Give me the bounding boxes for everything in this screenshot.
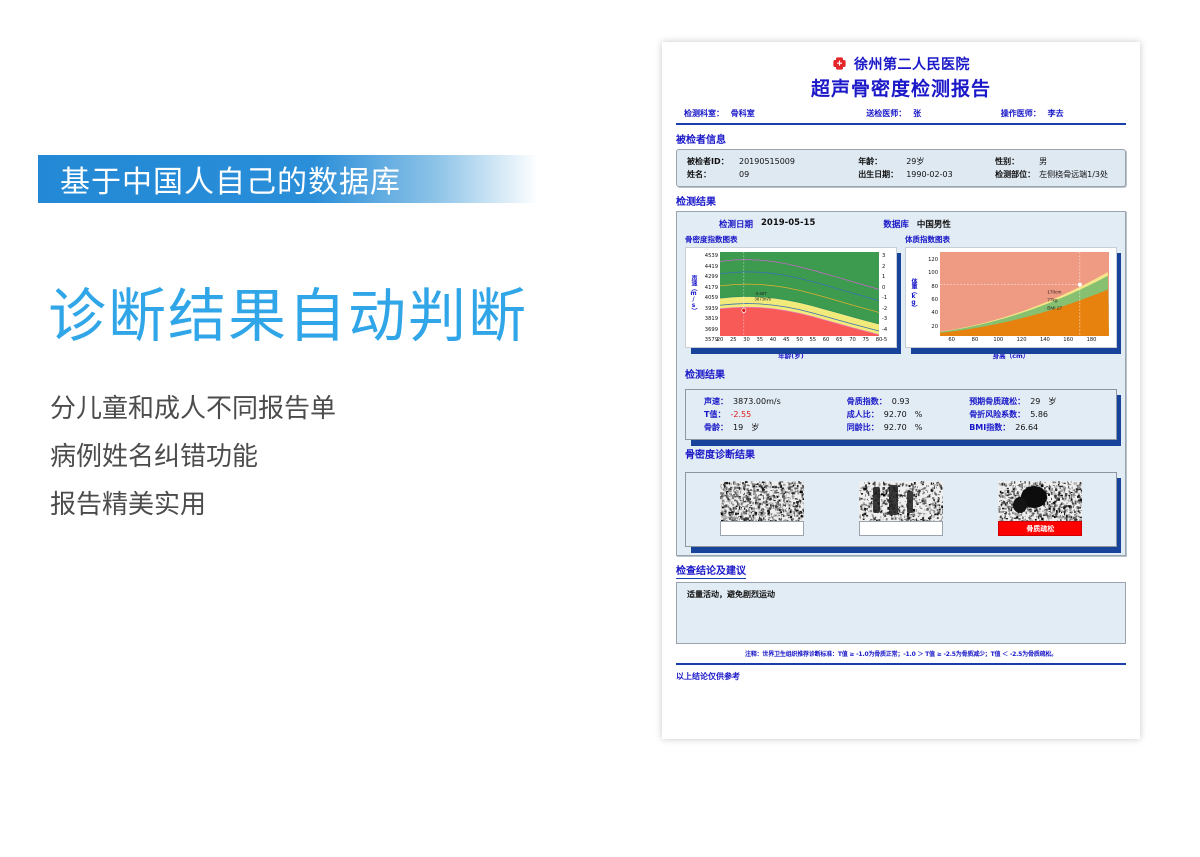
marketing-banner-text: 基于中国人自己的数据库	[38, 157, 401, 201]
x-tick: 25	[730, 337, 737, 343]
x-tick: 55	[809, 337, 816, 343]
t-tick: 1	[882, 274, 885, 280]
patient-birthdate-label: 出生日期：	[858, 168, 906, 181]
report-page: 徐州第二人民医院 超声骨密度检测报告 检测科室： 骨科室 送检医师： 张 操作医…	[662, 42, 1140, 739]
x-tick: 70	[849, 337, 856, 343]
peer-ratio-value: 92.70	[884, 421, 907, 434]
patient-age-label: 年龄：	[858, 155, 906, 168]
t-tick: -4	[882, 327, 887, 333]
bone-chart-plot: -2.55T3873m/s	[720, 252, 879, 336]
marketing-banner: 基于中国人自己的数据库	[38, 155, 538, 203]
expected-osteoporosis-field: 预期骨质疏松： 29 岁	[969, 395, 1112, 408]
referring-doctor-value: 张	[913, 109, 921, 118]
t-tick: 0	[882, 285, 885, 291]
svg-text:BMI 27: BMI 27	[1047, 305, 1062, 310]
bone-caption-2	[859, 521, 943, 536]
measurement-row-1: 声速： 3873.00m/s 骨质指数： 0.93 预期骨质疏松： 29 岁	[704, 395, 1112, 408]
peer-ratio-field: 同龄比： 92.70 %	[847, 421, 969, 434]
bone-age-value: 19	[733, 421, 743, 434]
patient-gender-field: 性别： 男	[995, 155, 1115, 168]
svg-text:-2.55T: -2.55T	[754, 291, 767, 296]
hospital-name: 徐州第二人民医院	[854, 54, 970, 74]
x-tick: 45	[783, 337, 790, 343]
patient-info-box: 被检者ID： 20190515009 年龄： 29岁 性别： 男 姓名： 09 …	[676, 149, 1126, 187]
bmi-chart-annotations: 170cm77kgBMI 27	[940, 252, 1109, 336]
bone-chart-y-axis: 357936993819393940594179429944194539	[698, 252, 720, 336]
y-tick: 3699	[705, 327, 718, 333]
measurement-site-field: 检测部位： 左侧桡骨远端1/3处	[995, 168, 1115, 181]
measurement-site-value: 左侧桡骨远端1/3处	[1039, 168, 1108, 181]
bone-chart-x-axis: 20253035404550556065707580	[720, 336, 879, 345]
marketing-bullet-3: 报告精美实用	[50, 481, 570, 529]
expected-osteoporosis-label: 预期骨质疏松：	[969, 395, 1025, 408]
y-tick: 100	[928, 270, 938, 276]
fracture-risk-field: 骨折风险系数： 5.86	[969, 408, 1112, 421]
marketing-headline: 诊断结果自动判断	[48, 285, 608, 349]
x-tick: 20	[717, 337, 724, 343]
bone-age-field: 骨龄： 19 岁	[704, 421, 847, 434]
operator-doctor-field: 操作医师： 李去	[1001, 108, 1118, 119]
fracture-risk-value: 5.86	[1030, 408, 1048, 421]
t-tick: 3	[882, 253, 885, 259]
patient-birthdate-field: 出生日期： 1990-02-03	[858, 168, 995, 181]
y-tick: 80	[931, 284, 938, 290]
patient-info-row-2: 姓名： 09 出生日期： 1990-02-03 检测部位： 左侧桡骨远端1/3处	[687, 168, 1115, 181]
x-tick: 50	[796, 337, 803, 343]
adult-ratio-unit: %	[915, 408, 923, 421]
department-label: 检测科室：	[684, 109, 724, 118]
x-tick: 30	[743, 337, 750, 343]
bmi-field: BMI指数： 26.64	[969, 421, 1112, 434]
patient-id-field: 被检者ID： 20190515009	[687, 155, 858, 168]
bmi-chart-y-axis: 20406080100120	[918, 252, 940, 336]
x-tick: 180	[1087, 337, 1097, 343]
x-tick: 80	[876, 337, 883, 343]
exam-date-value: 2019-05-15	[761, 218, 815, 230]
bmi-chart-ylabel: 体重（kg）	[909, 252, 918, 336]
measurement-row-3: 骨龄： 19 岁 同龄比： 92.70 % BMI指数： 26.64	[704, 421, 1112, 434]
footer-note: 以上结论仅供参考	[676, 671, 1126, 682]
y-tick: 4539	[705, 253, 718, 259]
x-tick: 35	[756, 337, 763, 343]
bone-chart-annotations: -2.55T3873m/s	[720, 252, 879, 336]
bone-texture-image-3	[998, 481, 1082, 521]
fracture-risk-label: 骨折风险系数：	[969, 408, 1025, 421]
sos-field: 声速： 3873.00m/s	[704, 395, 847, 408]
marketing-bullet-2: 病例姓名纠错功能	[50, 433, 570, 481]
x-tick: 60	[823, 337, 830, 343]
y-tick: 4059	[705, 295, 718, 301]
t-score-value: -2.55	[730, 408, 751, 421]
bone-quality-index-value: 0.93	[892, 395, 910, 408]
patient-gender-value: 男	[1039, 155, 1047, 168]
x-tick: 100	[993, 337, 1003, 343]
t-tick: -2	[882, 306, 887, 312]
y-tick: 4179	[705, 285, 718, 291]
bone-age-label: 骨龄：	[704, 421, 728, 434]
patient-name-label: 姓名：	[687, 168, 739, 181]
bmi-chart-x-axis: 6080100120140160180	[940, 336, 1109, 345]
bone-chart-ylabel: 声速（m/s）	[689, 252, 698, 336]
measure-section-title: 检测结果	[685, 366, 725, 381]
svg-text:3873m/s: 3873m/s	[754, 296, 771, 301]
x-tick: 140	[1040, 337, 1050, 343]
t-score-label: T值：	[704, 408, 725, 421]
doctor-row: 检测科室： 骨科室 送检医师： 张 操作医师： 李去	[676, 108, 1126, 119]
t-tick: -3	[882, 316, 887, 322]
expected-osteoporosis-value: 29	[1030, 395, 1040, 408]
patient-section-title: 被检者信息	[676, 131, 726, 146]
x-tick: 160	[1063, 337, 1073, 343]
x-tick: 60	[948, 337, 955, 343]
bone-caption-1	[720, 521, 804, 536]
x-tick: 75	[862, 337, 869, 343]
y-tick: 3939	[705, 306, 718, 312]
peer-ratio-unit: %	[915, 421, 923, 434]
results-section-title: 检测结果	[676, 193, 716, 208]
patient-age-value: 29岁	[906, 155, 924, 168]
charts-row: 骨密度指数图表 声速（m/s） 357936993819393940594179…	[685, 234, 1117, 360]
marketing-bullet-list: 分儿童和成人不同报告单 病例姓名纠错功能 报告精美实用	[50, 385, 570, 529]
bone-texture-image-1	[720, 481, 804, 521]
patient-info-row-1: 被检者ID： 20190515009 年龄： 29岁 性别： 男	[687, 155, 1115, 168]
expected-osteoporosis-unit: 岁	[1048, 395, 1056, 408]
referring-doctor-field: 送检医师： 张	[866, 108, 1001, 119]
operator-doctor-value: 李去	[1048, 109, 1064, 118]
conclusion-text: 适量活动，避免剧烈运动	[687, 589, 1115, 600]
database-label: 数据库	[883, 218, 909, 230]
department-value: 骨科室	[731, 109, 755, 118]
bmi-label: BMI指数：	[969, 421, 1010, 434]
adult-ratio-field: 成人比： 92.70 %	[847, 408, 969, 421]
bmi-value: 26.64	[1015, 421, 1038, 434]
sos-value: 3873.00m/s	[733, 395, 781, 408]
patient-birthdate-value: 1990-02-03	[906, 168, 953, 181]
x-tick: 80	[972, 337, 979, 343]
report-title: 超声骨密度检测报告	[676, 74, 1126, 101]
bone-item: 骨质疏松	[998, 481, 1082, 536]
y-tick: 4419	[705, 264, 718, 270]
peer-ratio-label: 同龄比：	[847, 421, 879, 434]
bone-section-title: 骨密度诊断结果	[685, 446, 755, 461]
marketing-panel: 基于中国人自己的数据库 诊断结果自动判断 分儿童和成人不同报告单 病例姓名纠错功…	[0, 0, 640, 857]
x-tick: 120	[1017, 337, 1027, 343]
operator-doctor-label: 操作医师：	[1001, 109, 1041, 118]
t-tick: -1	[882, 295, 887, 301]
measurement-box: 声速： 3873.00m/s 骨质指数： 0.93 预期骨质疏松： 29 岁	[685, 389, 1117, 440]
footer-divider	[676, 663, 1126, 665]
y-tick: 4299	[705, 274, 718, 280]
t-score-field: T值： -2.55	[704, 408, 847, 421]
osteoporosis-status-badge: 骨质疏松	[998, 521, 1082, 536]
y-tick: 3819	[705, 316, 718, 322]
results-panel: 检测日期 2019-05-15 数据库 中国男性 骨密度指数图表 声速（m/s）…	[676, 211, 1126, 556]
department-field: 检测科室： 骨科室	[684, 108, 866, 119]
y-tick: 120	[928, 257, 938, 263]
svg-text:77kg: 77kg	[1047, 297, 1058, 302]
header-divider	[676, 123, 1126, 125]
adult-ratio-label: 成人比：	[847, 408, 879, 421]
y-tick: 60	[931, 297, 938, 303]
patient-age-field: 年龄： 29岁	[858, 155, 995, 168]
marketing-bullet-1: 分儿童和成人不同报告单	[50, 385, 570, 433]
patient-id-label: 被检者ID：	[687, 155, 739, 168]
conclusion-box: 适量活动，避免剧烈运动	[676, 582, 1126, 644]
bmi-chart-col: 体质指数图表 体重（kg） 20406080100120 170cm77kgBM…	[905, 234, 1117, 360]
bone-item	[720, 481, 804, 536]
bone-item	[859, 481, 943, 536]
bone-image-box: 骨质疏松	[685, 472, 1117, 547]
exam-date-label: 检测日期	[719, 218, 753, 230]
bone-quality-index-label: 骨质指数：	[847, 395, 887, 408]
database-value: 中国男性	[917, 218, 951, 230]
x-tick: 40	[770, 337, 777, 343]
bone-density-chart-title: 骨密度指数图表	[685, 234, 897, 245]
exam-meta-row: 检测日期 2019-05-15 数据库 中国男性	[685, 218, 1117, 230]
sos-label: 声速：	[704, 395, 728, 408]
bone-density-chart-col: 骨密度指数图表 声速（m/s） 357936993819393940594179…	[685, 234, 897, 360]
referring-doctor-label: 送检医师：	[866, 109, 906, 118]
measurement-site-label: 检测部位：	[995, 168, 1039, 181]
patient-gender-label: 性别：	[995, 155, 1039, 168]
bone-chart-t-axis: 3210-1-2-3-4-5	[879, 252, 893, 336]
x-tick: 65	[836, 337, 843, 343]
conclusion-section-title: 检查结论及建议	[676, 562, 746, 579]
patient-name-field: 姓名： 09	[687, 168, 858, 181]
svg-text:170cm: 170cm	[1047, 289, 1061, 294]
t-tick: 2	[882, 264, 885, 270]
bmi-chart-title: 体质指数图表	[905, 234, 1117, 245]
red-cross-icon	[832, 56, 847, 71]
y-tick: 40	[931, 310, 938, 316]
bone-texture-image-2	[859, 481, 943, 521]
measurement-row-2: T值： -2.55 成人比： 92.70 % 骨折风险系数： 5.86	[704, 408, 1112, 421]
report-header: 徐州第二人民医院 超声骨密度检测报告	[676, 54, 1126, 101]
bone-age-unit: 岁	[751, 421, 759, 434]
y-tick: 20	[931, 324, 938, 330]
patient-name-value: 09	[739, 168, 749, 181]
who-standard-note: 注释：世界卫生组织推荐诊断标准：T值 ≥ -1.0为骨质正常；-1.0 ＞ T值…	[676, 649, 1126, 658]
patient-id-value: 20190515009	[739, 155, 795, 168]
bmi-chart-plot: 170cm77kgBMI 27	[940, 252, 1109, 336]
bone-quality-index-field: 骨质指数： 0.93	[847, 395, 969, 408]
t-tick: -5	[882, 337, 887, 343]
adult-ratio-value: 92.70	[884, 408, 907, 421]
